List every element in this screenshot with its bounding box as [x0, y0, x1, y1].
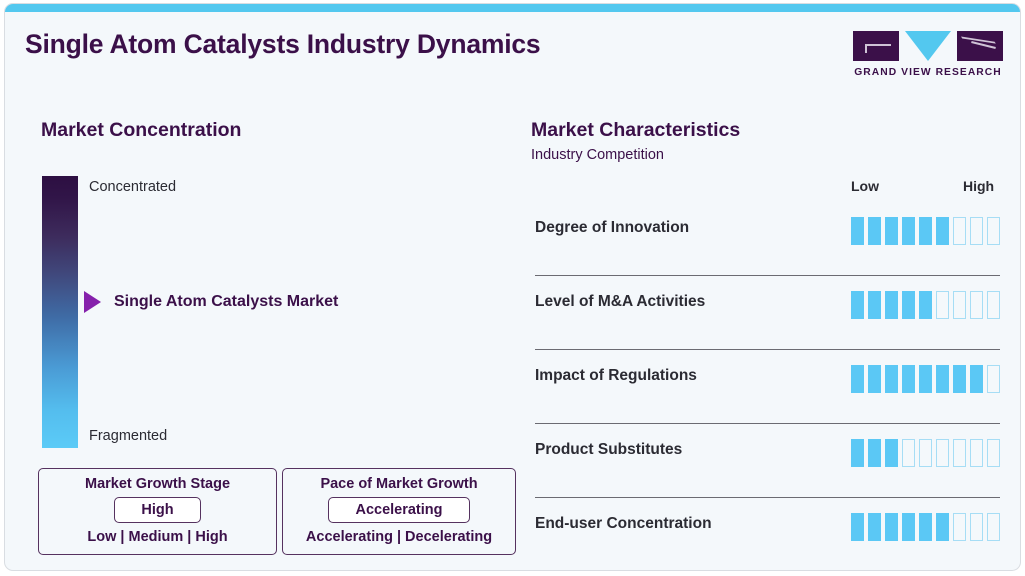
concentration-top-label: Concentrated: [89, 179, 176, 195]
market-characteristics-subtitle: Industry Competition: [531, 147, 664, 163]
rating-segment-filled: [868, 439, 881, 467]
characteristic-label: Level of M&A Activities: [535, 293, 705, 311]
rating-segment-filled: [970, 365, 983, 393]
rating-segment-empty: [919, 439, 932, 467]
rating-segment-filled: [885, 217, 898, 245]
characteristic-rating-bars: [851, 439, 1000, 467]
rating-segment-filled: [868, 291, 881, 319]
page-title: Single Atom Catalysts Industry Dynamics: [25, 29, 540, 60]
rating-segment-empty: [953, 513, 966, 541]
rating-segment-filled: [851, 291, 864, 319]
growth-pace-value: Accelerating: [328, 497, 469, 523]
scale-low-label: Low: [851, 178, 879, 194]
top-accent-bar: [5, 4, 1020, 12]
characteristic-row: Impact of Regulations: [535, 350, 1000, 424]
rating-segment-filled: [851, 365, 864, 393]
rating-segment-empty: [902, 439, 915, 467]
rating-segment-filled: [868, 217, 881, 245]
characteristic-label: Degree of Innovation: [535, 219, 689, 237]
characteristic-row: Product Substitutes: [535, 424, 1000, 498]
rating-segment-empty: [970, 291, 983, 319]
rating-segment-filled: [919, 365, 932, 393]
concentration-bottom-label: Fragmented: [89, 428, 167, 444]
characteristic-rating-bars: [851, 513, 1000, 541]
rating-segment-empty: [987, 217, 1000, 245]
characteristic-rating-bars: [851, 291, 1000, 319]
rating-segment-filled: [885, 365, 898, 393]
rating-segment-empty: [987, 439, 1000, 467]
market-position-marker-icon: [84, 291, 101, 313]
rating-segment-filled: [868, 365, 881, 393]
rating-segment-empty: [970, 217, 983, 245]
logo-marks: [853, 31, 1003, 63]
rating-segment-filled: [885, 291, 898, 319]
rating-segment-filled: [851, 513, 864, 541]
rating-segment-empty: [936, 291, 949, 319]
logo-r-block-icon: [957, 31, 1003, 61]
market-position-label: Single Atom Catalysts Market: [114, 293, 338, 311]
rating-segment-filled: [902, 291, 915, 319]
characteristic-label: End-user Concentration: [535, 515, 712, 533]
rating-segment-empty: [936, 439, 949, 467]
rating-segment-filled: [885, 513, 898, 541]
market-concentration-title: Market Concentration: [41, 119, 241, 142]
characteristic-rating-bars: [851, 217, 1000, 245]
rating-segment-filled: [902, 217, 915, 245]
characteristics-rows: Degree of InnovationLevel of M&A Activit…: [535, 202, 1000, 571]
pace-of-market-growth-box: Pace of Market Growth Accelerating Accel…: [282, 468, 516, 555]
rating-segment-filled: [885, 439, 898, 467]
growth-pace-title: Pace of Market Growth: [283, 476, 515, 492]
characteristic-label: Product Substitutes: [535, 441, 682, 459]
characteristic-row: End-user Concentration: [535, 498, 1000, 571]
rating-segment-filled: [936, 513, 949, 541]
market-growth-stage-box: Market Growth Stage High Low | Medium | …: [38, 468, 277, 555]
characteristic-rating-bars: [851, 365, 1000, 393]
growth-stage-title: Market Growth Stage: [39, 476, 276, 492]
logo-g-block-icon: [853, 31, 899, 61]
rating-segment-filled: [851, 217, 864, 245]
rating-segment-empty: [987, 513, 1000, 541]
market-characteristics-title: Market Characteristics: [531, 119, 740, 142]
rating-segment-filled: [919, 217, 932, 245]
rating-segment-filled: [919, 513, 932, 541]
rating-segment-filled: [902, 513, 915, 541]
rating-segment-filled: [919, 291, 932, 319]
rating-segment-empty: [953, 439, 966, 467]
rating-segment-empty: [970, 439, 983, 467]
growth-stage-scale: Low | Medium | High: [39, 529, 276, 545]
rating-segment-empty: [953, 291, 966, 319]
rating-segment-filled: [936, 365, 949, 393]
growth-pace-scale: Accelerating | Decelerating: [283, 529, 515, 545]
logo-v-triangle-icon: [905, 31, 951, 61]
characteristic-row: Level of M&A Activities: [535, 276, 1000, 350]
rating-segment-filled: [868, 513, 881, 541]
brand-logo: GRAND VIEW RESEARCH: [853, 31, 1003, 78]
infographic-card: Single Atom Catalysts Industry Dynamics …: [4, 3, 1021, 571]
rating-segment-filled: [902, 365, 915, 393]
logo-wordmark: GRAND VIEW RESEARCH: [853, 67, 1003, 78]
rating-segment-empty: [987, 365, 1000, 393]
rating-segment-filled: [851, 439, 864, 467]
rating-segment-empty: [987, 291, 1000, 319]
rating-segment-empty: [970, 513, 983, 541]
rating-segment-filled: [936, 217, 949, 245]
rating-segment-empty: [953, 217, 966, 245]
scale-high-label: High: [963, 178, 994, 194]
concentration-gradient-bar: [42, 176, 78, 448]
rating-segment-filled: [953, 365, 966, 393]
characteristic-row: Degree of Innovation: [535, 202, 1000, 276]
growth-stage-value: High: [114, 497, 200, 523]
characteristic-label: Impact of Regulations: [535, 367, 697, 385]
